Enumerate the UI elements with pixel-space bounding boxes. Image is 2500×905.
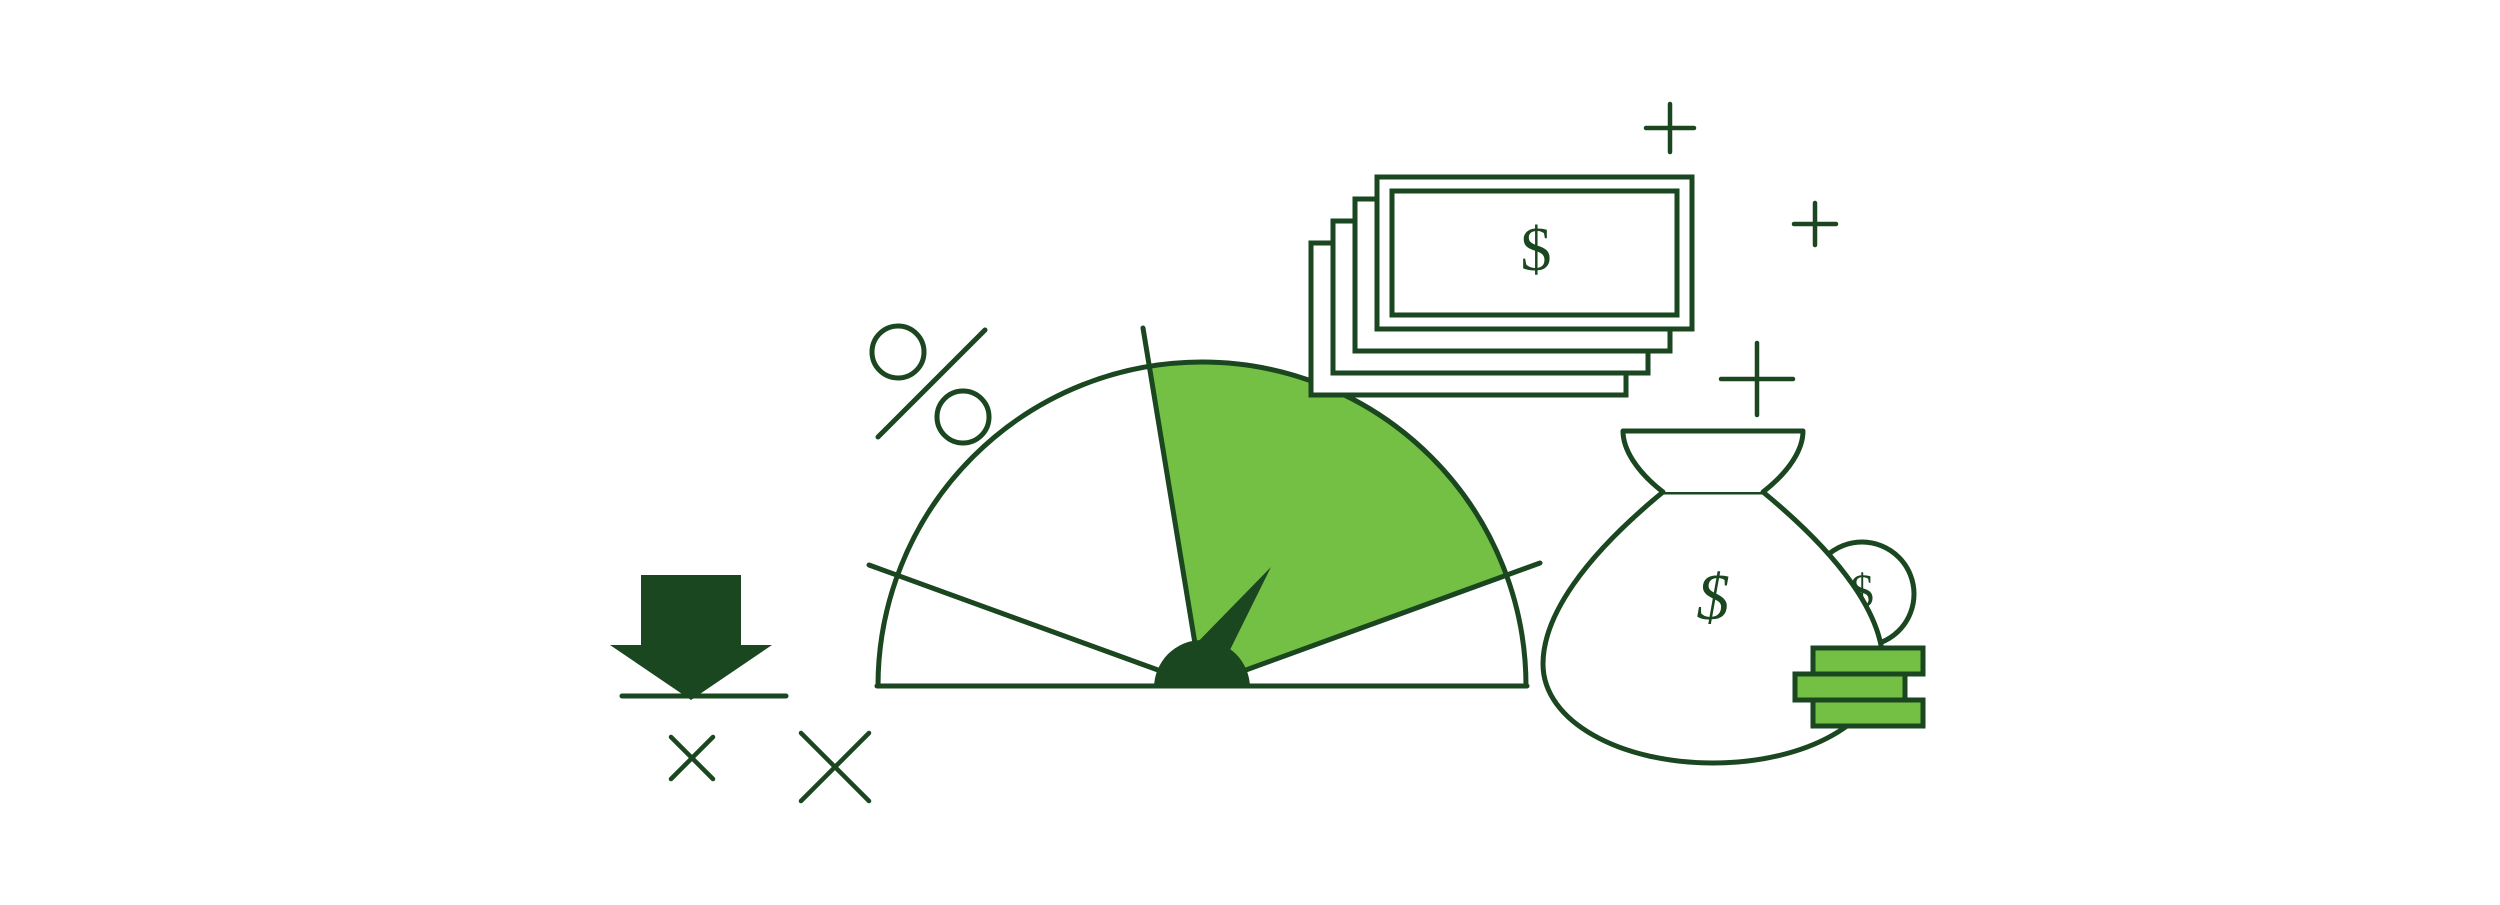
- coin-bar-mid: [1795, 674, 1905, 700]
- coin-bar-top: [1813, 648, 1923, 674]
- banknote-stack: $: [1311, 177, 1692, 395]
- banknote-dollar-glyph: $: [1521, 216, 1552, 284]
- illustration-canvas: Financial performance gauge illustration: [0, 0, 2500, 905]
- coin-stack: [1795, 648, 1923, 726]
- coin-bar-bottom: [1813, 700, 1923, 726]
- money-bag-dollar-glyph: $: [1697, 561, 1730, 634]
- finance-gauge-illustration: Financial performance gauge illustration: [0, 0, 2500, 905]
- money-bag-neck: [1623, 431, 1803, 492]
